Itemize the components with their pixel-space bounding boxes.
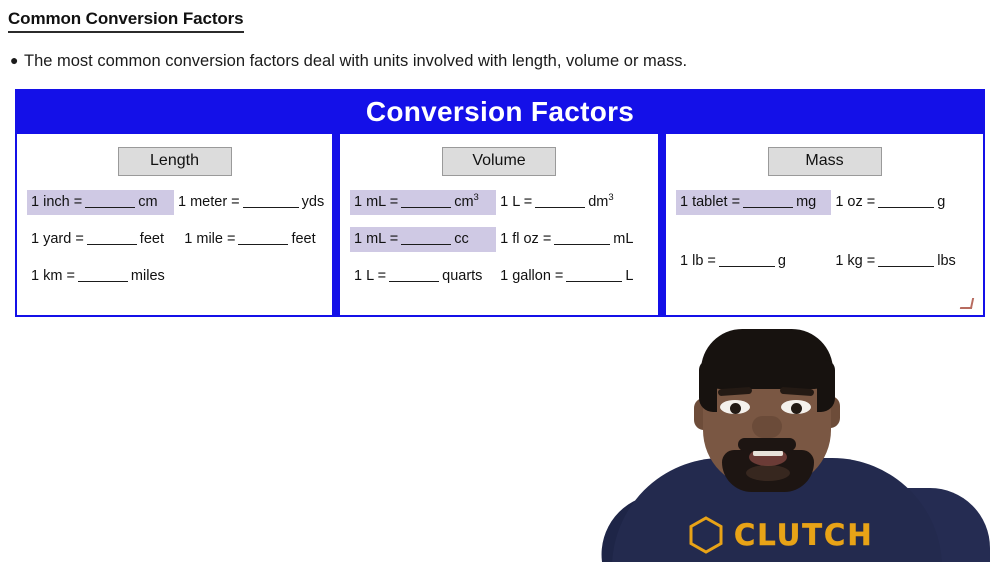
hair <box>701 329 833 389</box>
conversion-prefix: 1 L = <box>500 194 532 210</box>
conversion-prefix: 1 L = <box>354 268 386 284</box>
conversion-prefix: 1 mile = <box>184 231 235 247</box>
blank-underline[interactable] <box>401 244 451 245</box>
conversion-item[interactable]: 1 inch =cm <box>27 190 174 215</box>
table-header-title: Conversion Factors <box>366 97 634 127</box>
blank-underline[interactable] <box>554 244 610 245</box>
conversion-prefix: 1 tablet = <box>680 194 740 210</box>
column-length: Length 1 inch =cm 1 meter =yds 1 yard =f… <box>15 132 334 317</box>
conversion-unit: lbs <box>937 253 956 269</box>
conversion-prefix: 1 oz = <box>835 194 875 210</box>
conversion-unit: cm <box>454 194 473 210</box>
rows-mass: 1 tablet =mg 1 oz =g 1 lb =g 1 kg =lbs <box>666 190 983 274</box>
conversion-prefix: 1 lb = <box>680 253 716 269</box>
conversion-item[interactable]: 1 gallon =L <box>496 264 650 289</box>
hexagon-icon <box>688 516 724 554</box>
table-body: Length 1 inch =cm 1 meter =yds 1 yard =f… <box>15 132 985 317</box>
blank-underline[interactable] <box>401 207 451 208</box>
conversion-unit: dm <box>588 194 608 210</box>
blank-underline[interactable] <box>878 207 934 208</box>
unit-exponent: 3 <box>474 192 479 203</box>
table-row: 1 km =miles <box>27 264 324 289</box>
conversion-prefix: 1 meter = <box>178 194 240 210</box>
conversion-item[interactable]: 1 L =quarts <box>350 264 496 289</box>
conversion-item[interactable]: 1 kg =lbs <box>831 249 975 274</box>
conversion-prefix: 1 inch = <box>31 194 82 210</box>
conversion-item[interactable]: 1 meter =yds <box>174 190 324 215</box>
conversion-item[interactable]: 1 mL =cc <box>350 227 496 252</box>
instructor-figure: CLUTCH <box>460 320 1000 562</box>
conversion-prefix: 1 kg = <box>835 253 875 269</box>
conversion-item[interactable]: 1 km =miles <box>27 264 187 289</box>
stray-annotation-mark <box>960 298 974 309</box>
conversion-unit: mg <box>796 194 816 210</box>
mustache <box>738 438 796 451</box>
table-row: 1 inch =cm 1 meter =yds <box>27 190 324 215</box>
conversion-item[interactable]: 1 fl oz =mL <box>496 227 650 252</box>
blank-underline[interactable] <box>238 244 288 245</box>
pupil-right <box>791 403 802 414</box>
conversion-item[interactable]: 1 mile =feet <box>180 227 324 252</box>
conversion-prefix: 1 mL = <box>354 194 398 210</box>
blank-underline[interactable] <box>743 207 793 208</box>
bullet-point: ●The most common conversion factors deal… <box>10 49 687 72</box>
blank-underline[interactable] <box>566 281 622 282</box>
conversion-item[interactable]: 1 oz =g <box>831 190 975 215</box>
conversion-unit: cm <box>138 194 157 210</box>
column-label-volume: Volume <box>442 147 556 176</box>
conversion-prefix: 1 yard = <box>31 231 84 247</box>
bullet-dot-icon: ● <box>10 49 24 71</box>
conversion-unit: yds <box>302 194 325 210</box>
conversion-unit: miles <box>131 268 165 284</box>
blank-underline[interactable] <box>78 281 128 282</box>
conversion-prefix: 1 gallon = <box>500 268 563 284</box>
conversion-prefix: 1 fl oz = <box>500 231 551 247</box>
hair-side-right <box>817 360 835 412</box>
bullet-text: The most common conversion factors deal … <box>24 52 687 70</box>
column-label-length: Length <box>118 147 232 176</box>
table-row: 1 tablet =mg 1 oz =g <box>676 190 975 215</box>
conversion-unit: L <box>625 268 633 284</box>
conversion-item[interactable]: 1 lb =g <box>676 249 831 274</box>
table-row: 1 L =quarts 1 gallon =L <box>350 264 650 289</box>
unit-exponent: 3 <box>608 192 613 203</box>
conversion-unit: g <box>778 253 786 269</box>
conversion-unit: feet <box>291 231 315 247</box>
table-row: 1 lb =g 1 kg =lbs <box>676 249 975 274</box>
conversion-prefix: 1 km = <box>31 268 75 284</box>
conversion-unit: cc <box>454 231 469 247</box>
clutch-logo: CLUTCH <box>688 516 874 554</box>
blank-underline[interactable] <box>87 244 137 245</box>
pupil-left <box>730 403 741 414</box>
rows-length: 1 inch =cm 1 meter =yds 1 yard =feet 1 m… <box>17 190 332 289</box>
blank-underline[interactable] <box>389 281 439 282</box>
clutch-logo-text: CLUTCH <box>734 520 874 550</box>
nose <box>752 416 782 438</box>
conversion-factors-table: Conversion Factors Length 1 inch =cm 1 m… <box>15 89 985 317</box>
hair-side-left <box>699 360 717 412</box>
conversion-unit: feet <box>140 231 164 247</box>
conversion-unit: g <box>937 194 945 210</box>
blank-underline[interactable] <box>878 266 934 267</box>
conversion-item[interactable]: 1 tablet =mg <box>676 190 831 215</box>
conversion-item[interactable]: 1 mL =cm3 <box>350 190 496 215</box>
conversion-unit: mL <box>613 231 633 247</box>
instructor-video-overlay[interactable]: CLUTCH <box>460 320 1000 562</box>
column-volume: Volume 1 mL =cm3 1 L =dm3 1 mL =cc <box>338 132 660 317</box>
chin <box>746 465 790 481</box>
column-mass: Mass 1 tablet =mg 1 oz =g 1 lb =g <box>664 132 985 317</box>
conversion-item[interactable]: 1 yard =feet <box>27 227 180 252</box>
conversion-item[interactable]: 1 L =dm3 <box>496 190 650 215</box>
table-header-bar: Conversion Factors <box>15 89 985 132</box>
conversion-prefix: 1 mL = <box>354 231 398 247</box>
blank-underline[interactable] <box>85 207 135 208</box>
column-label-mass: Mass <box>768 147 882 176</box>
table-row: 1 mL =cm3 1 L =dm3 <box>350 190 650 215</box>
rows-volume: 1 mL =cm3 1 L =dm3 1 mL =cc 1 fl oz =mL <box>340 190 658 289</box>
conversion-unit: quarts <box>442 268 482 284</box>
blank-underline[interactable] <box>535 207 585 208</box>
page-title: Common Conversion Factors <box>8 9 244 33</box>
table-row: 1 yard =feet 1 mile =feet <box>27 227 324 252</box>
blank-underline[interactable] <box>243 207 299 208</box>
table-row: 1 mL =cc 1 fl oz =mL <box>350 227 650 252</box>
blank-underline[interactable] <box>719 266 775 267</box>
